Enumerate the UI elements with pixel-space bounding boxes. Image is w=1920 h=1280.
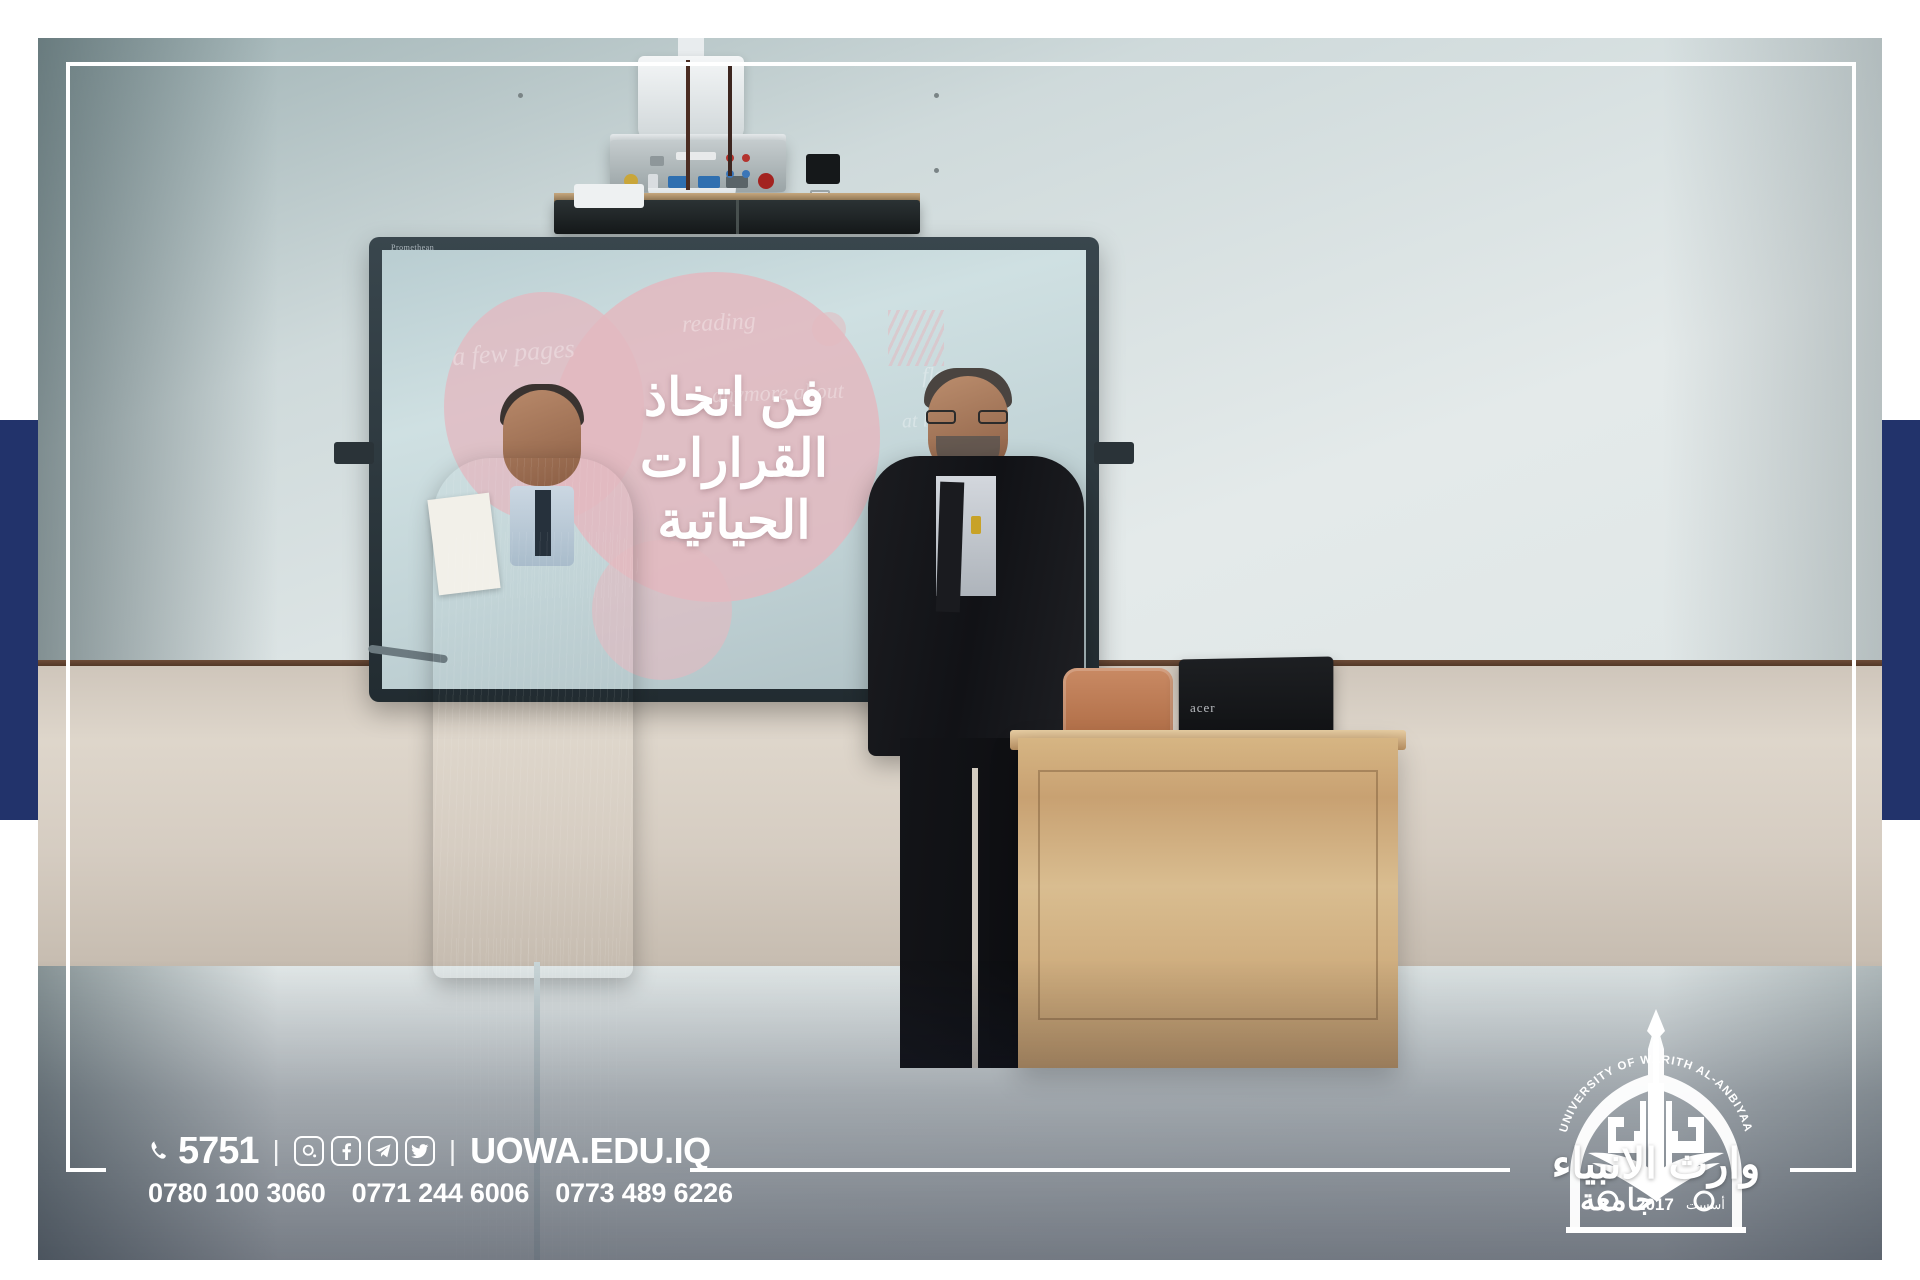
frame-right — [1852, 62, 1856, 1172]
presenter-right-lapel-pin — [971, 516, 981, 534]
instagram-icon[interactable] — [294, 1136, 324, 1166]
contact-footer: 5751 | — [148, 1130, 733, 1209]
frame-bottom-left — [66, 1168, 106, 1172]
whiteboard-mount-left — [334, 442, 374, 464]
poster-canvas: Promethean a few pages reading anymore a… — [0, 0, 1920, 1280]
contact-phone-row: 0780 100 3060 0771 244 6006 0773 489 622… — [148, 1178, 733, 1209]
projector-power-brick — [806, 154, 840, 184]
slide-hatch-pattern — [888, 310, 944, 366]
ceiling-fixture — [574, 184, 644, 208]
facebook-glyph — [337, 1142, 355, 1160]
accent-band-right — [1880, 420, 1920, 820]
phone-icon — [148, 1138, 172, 1164]
website-url[interactable]: UOWA.EDU.IQ — [470, 1130, 711, 1172]
projector-cable-a — [686, 60, 702, 190]
phone-number-1: 0780 100 3060 — [148, 1178, 326, 1209]
eyeglasses-icon — [926, 410, 1010, 424]
footer-separator-2: | — [449, 1135, 456, 1167]
footer-separator-1: | — [273, 1135, 280, 1167]
contact-primary-row: 5751 | — [148, 1130, 733, 1172]
logo-established-year: 2017 — [1636, 1195, 1674, 1215]
presenter-right-tie — [936, 482, 965, 613]
frame-bottom-center — [690, 1168, 1510, 1172]
projector-cable-b — [728, 64, 752, 176]
telegram-glyph — [374, 1142, 392, 1160]
logo-established-label: أسست — [1686, 1197, 1725, 1213]
hotline-block: 5751 — [148, 1130, 259, 1173]
twitter-icon[interactable] — [405, 1136, 435, 1166]
phone-number-3: 0773 489 6226 — [555, 1178, 733, 1209]
logo-arabic-name: وارث الانبياء — [1536, 1143, 1776, 1185]
frame-bottom-right — [1790, 1168, 1856, 1172]
phone-number-2: 0771 244 6006 — [352, 1178, 530, 1209]
laptop-brand-label: acer — [1190, 700, 1216, 716]
university-logo: UNIVERSITY OF WARITH AL-ANBIYAA وارث الا… — [1536, 1005, 1776, 1240]
presenter-left-arms — [442, 532, 638, 598]
soundbar-divider — [736, 200, 739, 234]
hotline-number: 5751 — [178, 1130, 259, 1173]
social-links — [294, 1136, 435, 1166]
facebook-icon[interactable] — [331, 1136, 361, 1166]
frame-left — [66, 62, 70, 1172]
whiteboard-mount-right — [1094, 442, 1134, 464]
frame-top — [66, 62, 1856, 66]
slide-blob-4 — [812, 312, 846, 346]
accent-band-left — [0, 420, 40, 820]
twitter-glyph — [411, 1142, 429, 1160]
instagram-glyph — [300, 1142, 318, 1160]
telegram-icon[interactable] — [368, 1136, 398, 1166]
board-ghost-note-2: reading — [681, 308, 756, 339]
